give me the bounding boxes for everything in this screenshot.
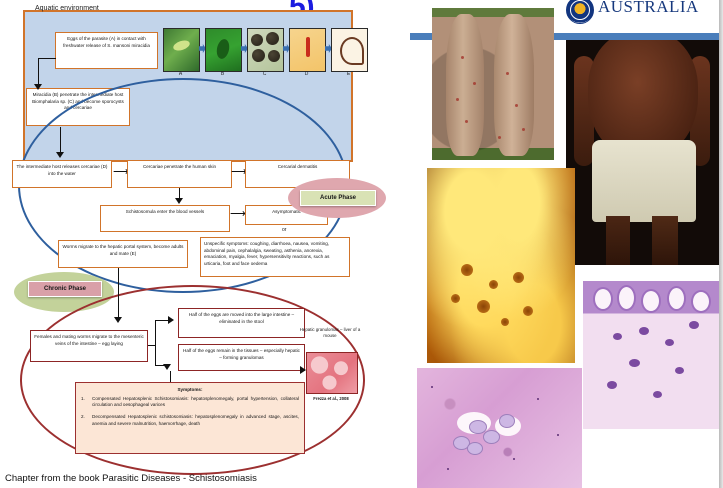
stage-image-c (247, 28, 284, 72)
box-host-releases-cercariae: The intermediate host releases cercariae… (12, 160, 112, 188)
stage-image-b (205, 28, 242, 72)
chronic-phase-badge: Chronic Phase (28, 281, 102, 297)
box-half-eggs-tissues-granulomas: Half of the eggs remain in the tissues –… (178, 344, 305, 371)
symptoms-box: Symptoms: 1. Compensated Hepatosplenic S… (75, 382, 305, 454)
stage-label-a: A (163, 71, 198, 77)
acute-phase-badge: Acute Phase (300, 190, 376, 206)
box-cercariae-penetrate-skin: Cercariae penetrate the human skin (127, 160, 232, 188)
stage-label-e: E (331, 71, 366, 77)
arrow-head-down-1-icon (34, 84, 42, 90)
arrow-head-down-half2-icon (163, 364, 171, 370)
arrow-head-right-half1-icon (168, 316, 174, 324)
screenshot-root: 5) Aquatic environment Eggs of the paras… (0, 0, 723, 488)
slide-edge-shadow (719, 0, 723, 488)
symptom-number-2: 2. (81, 414, 88, 427)
hepatic-granuloma-micrograph (306, 352, 358, 394)
stage-label-d: D (289, 71, 324, 77)
boy-abdominal-distension-photo (566, 40, 721, 265)
granuloma-caption: Hepatic granulomas – liver of a mouse (298, 327, 362, 339)
stage-label-b: B (205, 71, 240, 77)
stage-label-c: C (247, 71, 282, 77)
box-unspecific-symptoms: Unspecific symptoms: coughing, diarrhoea… (200, 237, 350, 277)
symptom-item-1: 1. Compensated Hepatosplenic Schistosomi… (81, 396, 299, 409)
connector-split-vert (155, 320, 156, 366)
symptom-number-1: 1. (81, 396, 88, 409)
symptom-text-2: Decompensated Hepatosplenic schistosomia… (92, 414, 299, 427)
legs-cercarial-dermatitis-photo (432, 8, 554, 160)
lifecycle-flowchart-slide: 5) Aquatic environment Eggs of the paras… (0, 0, 410, 488)
box-eggs-freshwater: Eggs of the parasite (A) in contact with… (55, 32, 158, 69)
or-connector-label: or (282, 227, 286, 233)
box-females-mesenteric-veins: Females and mating worms migrate to the … (30, 330, 148, 362)
stage-image-d (289, 28, 326, 72)
connector-split-horiz (148, 345, 156, 346)
histology-mucosa-photo (583, 281, 721, 429)
granuloma-citation: Frezza et al., 2008 (300, 396, 362, 401)
contrast-radiograph-photo (427, 168, 575, 363)
box-worms-migrate-hepatic-portal: Worms migrate to the hepatic portal syst… (58, 240, 188, 268)
connector-symptoms-up (170, 371, 171, 382)
aquatic-environment-label: Aquatic environment (35, 5, 99, 12)
box-schistosomula-blood-vessels: Schistosomula enter the blood vessels (100, 205, 230, 232)
symptoms-heading: Symptoms: (81, 387, 299, 394)
connector-eggs-elbow (38, 58, 56, 59)
box-half-eggs-large-intestine: Half of the eggs are moved into the larg… (178, 308, 305, 338)
connector-eggs-down (38, 58, 39, 85)
stage-image-e (331, 28, 368, 72)
slide-header-title: AUSTRALIA (598, 0, 699, 17)
connector-up-to-half1 (155, 320, 169, 321)
symptom-text-1: Compensated Hepatosplenic Schistosomiasi… (92, 396, 299, 409)
arrow-head-down-4-icon (114, 317, 122, 323)
arrow-head-down-3-icon (175, 198, 183, 204)
histology-eggs-tissue-photo (417, 368, 582, 488)
clinical-photos-slide: AUSTRALIA (410, 0, 723, 488)
footer-source-caption: Chapter from the book Parasitic Diseases… (5, 473, 257, 484)
arrow-right-3-icon: ⟶ (230, 209, 246, 220)
stage-image-a (163, 28, 200, 72)
symptom-item-2: 2. Decompensated Hepatosplenic schistoso… (81, 414, 299, 427)
connector-worms-down (118, 268, 119, 318)
